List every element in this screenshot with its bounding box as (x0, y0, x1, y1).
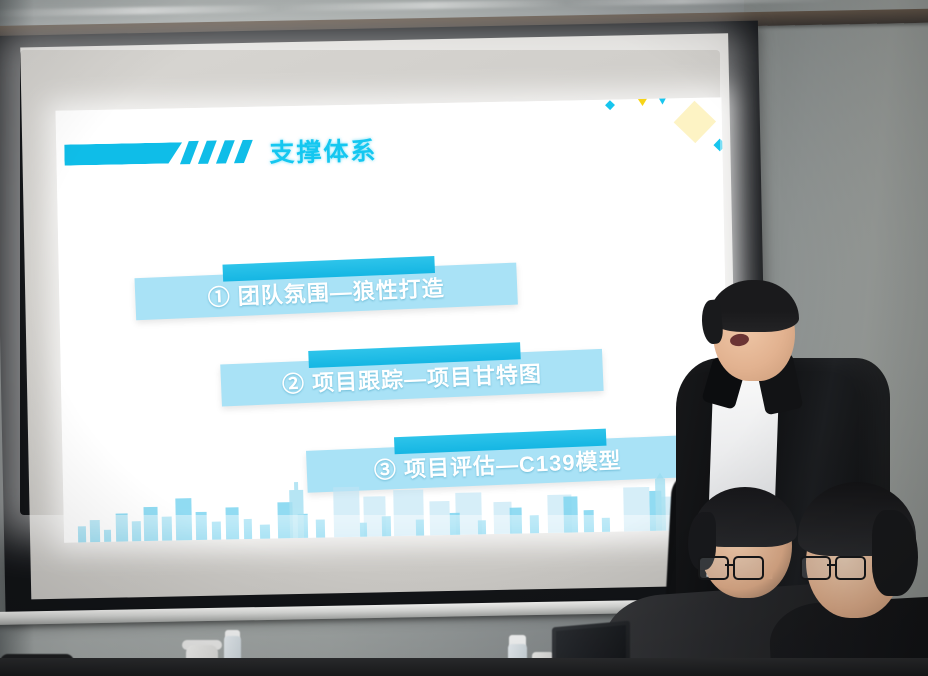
triangle-cyan-icon (657, 97, 667, 104)
slash-mark-3 (216, 140, 235, 163)
bullet-label: ① 团队氛围—狼性打造 (134, 263, 517, 321)
title-accent-bar (64, 142, 182, 165)
diamond-cyan-icon (713, 139, 726, 152)
projector-screen-frame: 支撑体系 ① 团队氛围—狼性打造 ② 项目跟踪—项目甘特图 (0, 21, 770, 622)
triangle-yellow-icon (635, 97, 649, 106)
slash-mark-4 (234, 140, 253, 163)
glasses-bridge (725, 564, 733, 566)
bullet-label: ② 项目跟踪—项目甘特图 (220, 349, 603, 407)
city-skyline-graphic (63, 471, 730, 542)
glasses-lens-right (835, 556, 866, 580)
projector-screen-surface: 支撑体系 ① 团队氛围—狼性打造 ② 项目跟踪—项目甘特图 (20, 33, 739, 599)
glasses-lens-left (698, 556, 729, 580)
slide-bullet-1: ① 团队氛围—狼性打造 (135, 257, 518, 313)
slide-bullet-2: ② 项目跟踪—项目甘特图 (220, 343, 603, 399)
glasses-lens-left (800, 556, 831, 580)
glasses-lens-right (733, 556, 764, 580)
conference-table (0, 658, 928, 676)
attendee-b-glasses (800, 556, 868, 580)
diamond-pale-yellow-icon (674, 101, 716, 143)
diamond-cyan-small-icon (605, 100, 615, 110)
presentation-slide: 支撑体系 ① 团队氛围—狼性打造 ② 项目跟踪—项目甘特图 (56, 97, 731, 542)
projected-slide-area: 支撑体系 ① 团队氛围—狼性打造 ② 项目跟踪—项目甘特图 (56, 97, 731, 542)
slide-title-row: 支撑体系 (64, 132, 395, 175)
presentation-room-scene: 支撑体系 ① 团队氛围—狼性打造 ② 项目跟踪—项目甘特图 (0, 0, 928, 676)
glasses-bridge (827, 564, 835, 566)
slash-mark-1 (180, 141, 199, 164)
slide-title: 支撑体系 (269, 131, 378, 169)
attendee-a-glasses (698, 556, 760, 578)
slash-mark-2 (198, 141, 217, 164)
title-slash-marks (184, 140, 258, 164)
